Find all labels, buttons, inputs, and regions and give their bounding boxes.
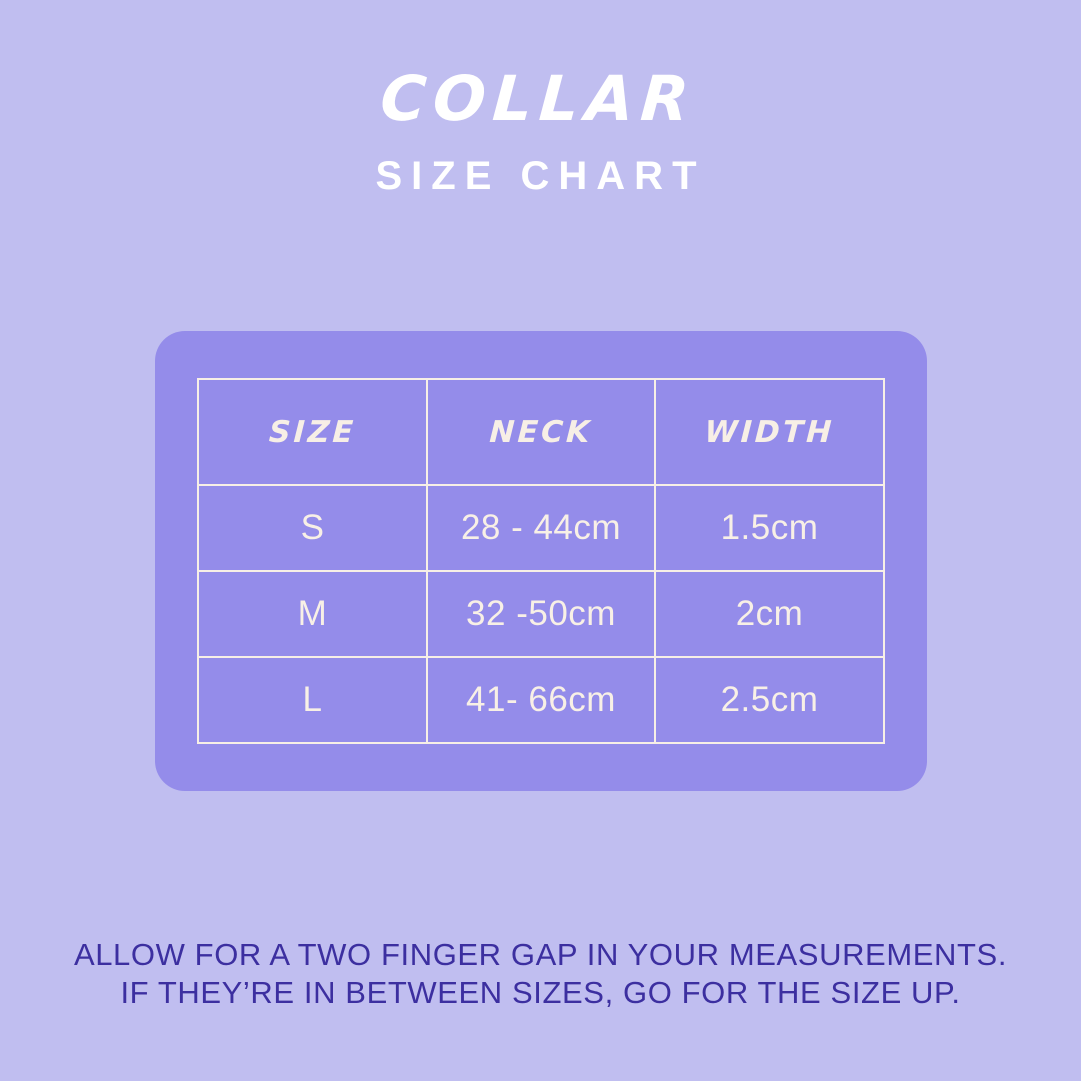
page-subtitle: SIZE CHART — [0, 130, 1081, 196]
cell-size: L — [198, 657, 427, 743]
table-body: S 28 - 44cm 1.5cm M 32 -50cm 2cm L 41- 6… — [198, 485, 884, 743]
table-row: S 28 - 44cm 1.5cm — [198, 485, 884, 571]
size-chart-table: SIZE NECK WIDTH S 28 - 44cm 1.5cm M 32 -… — [197, 378, 885, 744]
column-header-width: WIDTH — [652, 379, 887, 485]
measurement-note-line-1: ALLOW FOR A TWO FINGER GAP IN YOUR MEASU… — [0, 936, 1081, 974]
cell-width: 2cm — [655, 571, 884, 657]
cell-width: 2.5cm — [655, 657, 884, 743]
table-row: L 41- 66cm 2.5cm — [198, 657, 884, 743]
cell-neck: 32 -50cm — [427, 571, 655, 657]
cell-size: S — [198, 485, 427, 571]
column-header-neck: NECK — [424, 379, 658, 485]
cell-width: 1.5cm — [655, 485, 884, 571]
cell-neck: 28 - 44cm — [427, 485, 655, 571]
size-chart-card: SIZE NECK WIDTH S 28 - 44cm 1.5cm M 32 -… — [155, 331, 927, 791]
measurement-note: ALLOW FOR A TWO FINGER GAP IN YOUR MEASU… — [0, 936, 1081, 1012]
column-header-size: SIZE — [195, 379, 430, 485]
measurement-note-line-2: IF THEY’RE IN BETWEEN SIZES, GO FOR THE … — [0, 974, 1081, 1012]
cell-neck: 41- 66cm — [427, 657, 655, 743]
page-title: COLLAR — [0, 0, 1081, 130]
page-header: COLLAR SIZE CHART — [0, 0, 1081, 196]
table-row: M 32 -50cm 2cm — [198, 571, 884, 657]
cell-size: M — [198, 571, 427, 657]
table-header-row: SIZE NECK WIDTH — [198, 379, 884, 485]
table-header: SIZE NECK WIDTH — [198, 379, 884, 485]
